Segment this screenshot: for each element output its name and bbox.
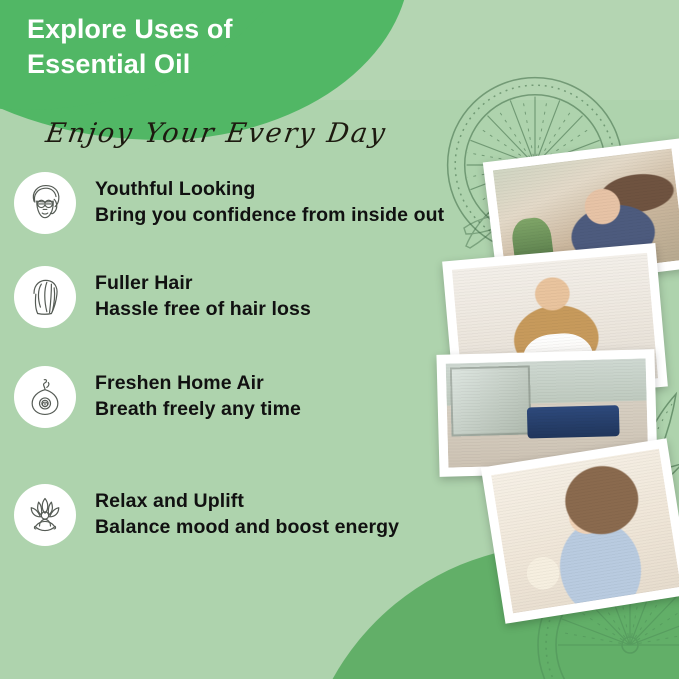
feature-subtitle: Hassle free of hair loss bbox=[95, 297, 311, 323]
feature-subtitle: Breath freely any time bbox=[95, 397, 301, 423]
face-mask-icon bbox=[14, 172, 76, 234]
diffuser-icon bbox=[14, 366, 76, 428]
feature-subtitle: Bring you confidence from inside out bbox=[95, 203, 444, 229]
long-hair-icon bbox=[14, 266, 76, 328]
feature-row-relax-and-uplift: Relax and Uplift Balance mood and boost … bbox=[14, 484, 399, 546]
page-title: Explore Uses of Essential Oil bbox=[27, 12, 233, 81]
feature-title: Relax and Uplift bbox=[95, 489, 399, 515]
feature-row-fuller-hair: Fuller Hair Hassle free of hair loss bbox=[14, 266, 311, 328]
feature-title: Fuller Hair bbox=[95, 271, 311, 297]
feature-title: Freshen Home Air bbox=[95, 371, 301, 397]
photo-woman-spraying-fragrance bbox=[481, 438, 679, 623]
feature-text-fuller-hair: Fuller Hair Hassle free of hair loss bbox=[95, 271, 311, 322]
feature-text-freshen-home-air: Freshen Home Air Breath freely any time bbox=[95, 371, 301, 422]
feature-title: Youthful Looking bbox=[95, 177, 444, 203]
infographic-canvas: Explore Uses of Essential Oil Enjoy Your… bbox=[0, 0, 679, 679]
feature-text-relax-and-uplift: Relax and Uplift Balance mood and boost … bbox=[95, 489, 399, 540]
lotus-meditation-icon bbox=[14, 484, 76, 546]
feature-text-youthful-looking: Youthful Looking Bring you confidence fr… bbox=[95, 177, 444, 228]
tagline: Enjoy Your Every Day bbox=[44, 118, 390, 149]
feature-row-freshen-home-air: Freshen Home Air Breath freely any time bbox=[14, 366, 301, 428]
feature-row-youthful-looking: Youthful Looking Bring you confidence fr… bbox=[14, 172, 444, 234]
feature-subtitle: Balance mood and boost energy bbox=[95, 515, 399, 541]
